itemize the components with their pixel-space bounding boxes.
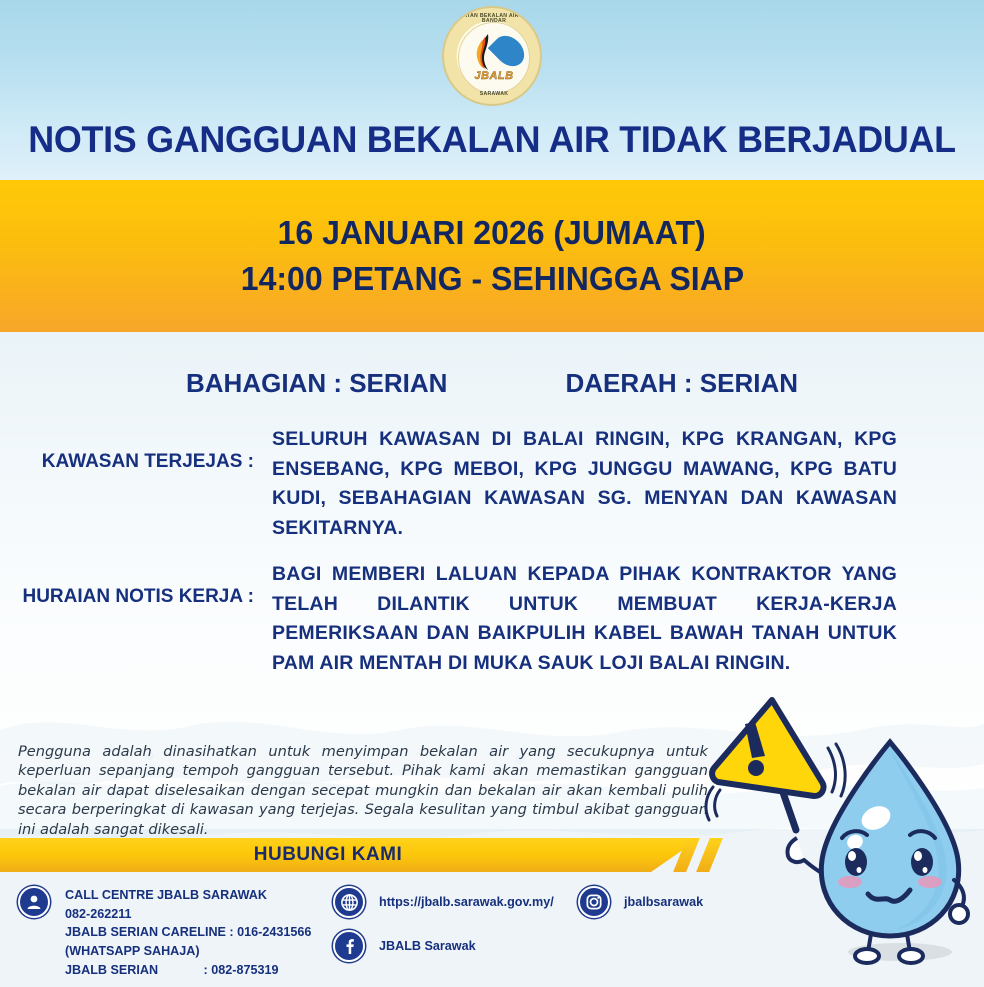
work-description-block: HURAIAN NOTIS KERJA : BAGI MEMBERI LALUA… (0, 560, 897, 679)
header-band: JABATAN BEKALAN AIR LUAR BANDAR JBALB SA… (0, 0, 984, 180)
affected-areas-text: SELURUH KAWASAN DI BALAI RINGIN, KPG KRA… (272, 425, 897, 544)
work-description-label: HURAIAN NOTIS KERJA : (0, 560, 272, 679)
schedule-time: 14:00 PETANG - SEHINGGA SIAP (240, 260, 743, 298)
website-link[interactable]: https://jbalb.sarawak.gov.my/ (379, 893, 554, 911)
call-centre-name: CALL CENTRE JBALB SARAWAK (65, 886, 335, 905)
logo-ring-bottom-text: SARAWAK (444, 92, 542, 97)
person-icon (18, 886, 50, 918)
work-description-text: BAGI MEMBERI LALUAN KEPADA PIHAK KONTRAK… (272, 560, 897, 679)
instagram-icon[interactable] (578, 886, 610, 918)
contacts-section: CALL CENTRE JBALB SARAWAK 082-262211 JBA… (0, 880, 984, 987)
district-label: DAERAH : SERIAN (565, 368, 798, 399)
schedule-date: 16 JANUARI 2026 (JUMAAT) (278, 214, 706, 252)
globe-icon[interactable] (333, 886, 365, 918)
serian-office-number: JBALB SERIAN : 082-875319 (65, 961, 335, 980)
region-row: BAHAGIAN : SERIAN DAERAH : SERIAN (0, 368, 984, 399)
call-centre-block: CALL CENTRE JBALB SARAWAK 082-262211 JBA… (65, 886, 335, 979)
contact-banner-title: HUBUNGI KAMI (254, 844, 403, 866)
affected-areas-block: KAWASAN TERJEJAS : SELURUH KAWASAN DI BA… (0, 425, 897, 544)
instagram-handle[interactable]: jbalbsarawak (624, 893, 703, 911)
schedule-band: 16 JANUARI 2026 (JUMAAT) 14:00 PETANG - … (0, 180, 984, 332)
logo-wordmark: JBALB (444, 70, 542, 82)
call-centre-number: 082-262211 (65, 905, 335, 924)
disclaimer-text: Pengguna adalah dinasihatkan untuk menyi… (18, 742, 708, 839)
careline-number: JBALB SERIAN CARELINE : 016-2431566 (65, 923, 335, 942)
contact-banner: HUBUNGI KAMI (0, 838, 700, 872)
page-title: NOTIS GANGGUAN BEKALAN AIR TIDAK BERJADU… (15, 119, 969, 161)
affected-areas-label: KAWASAN TERJEJAS : (0, 425, 272, 544)
jbalb-logo: JABATAN BEKALAN AIR LUAR BANDAR JBALB SA… (442, 6, 542, 106)
notice-poster: JABATAN BEKALAN AIR LUAR BANDAR JBALB SA… (0, 0, 984, 987)
whatsapp-note: (WHATSAPP SAHAJA) (65, 942, 335, 961)
warning-triangle-sign (712, 700, 823, 796)
facebook-handle[interactable]: JBALB Sarawak (379, 937, 476, 955)
facebook-icon[interactable] (333, 930, 365, 962)
division-label: BAHAGIAN : SERIAN (186, 368, 447, 399)
